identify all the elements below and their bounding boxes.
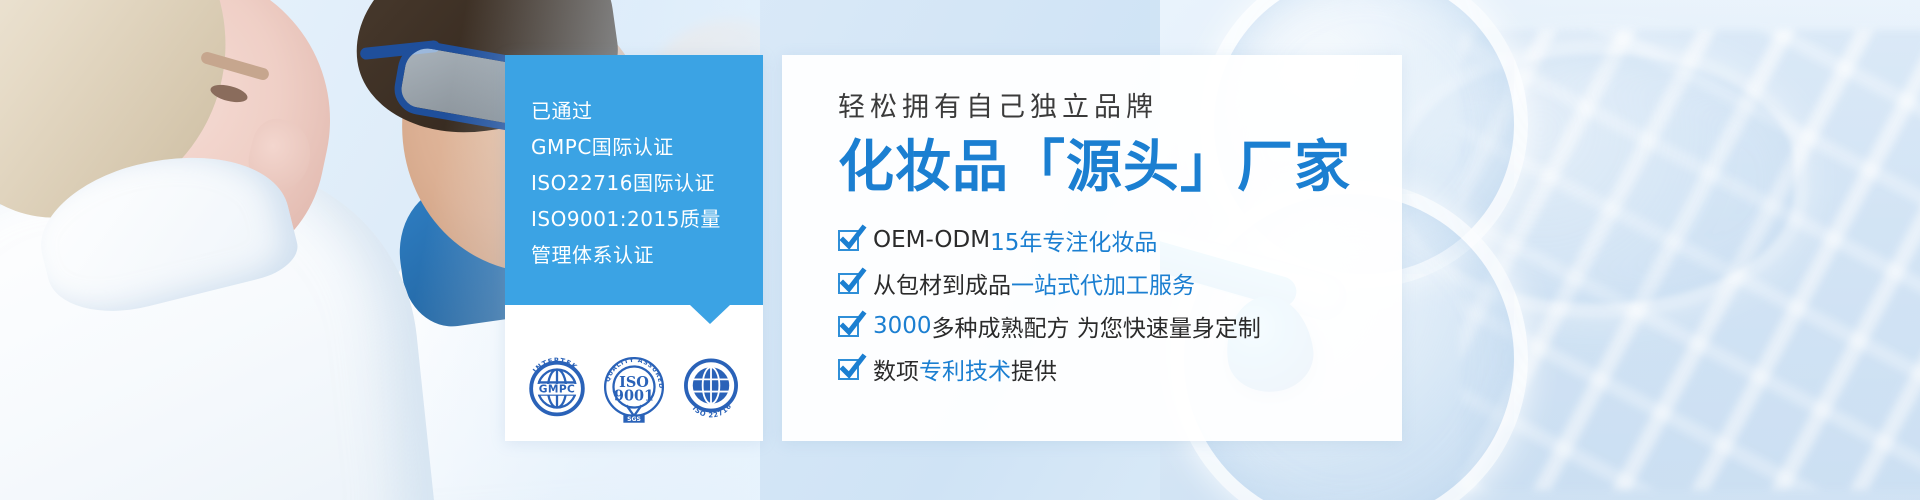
cert-line-1: 已通过 xyxy=(531,93,763,129)
kicker-text: 轻松拥有自己独立品牌 xyxy=(838,93,1402,123)
cert-line-5: 管理体系认证 xyxy=(531,237,763,273)
svg-text:SGS: SGS xyxy=(627,416,641,423)
bullet-highlight: 15年专注化妆品 xyxy=(990,223,1157,257)
list-item: 数项 专利技术 提供 xyxy=(838,348,1402,391)
bullet-plain-1: OEM-ODM xyxy=(873,227,990,253)
check-box-icon xyxy=(838,316,859,337)
bullet-plain-2: 提供 xyxy=(1011,352,1057,386)
check-box-icon xyxy=(838,359,859,380)
bullet-highlight: 一站式代加工服务 xyxy=(1011,266,1195,300)
female-scientist-hair xyxy=(0,0,262,242)
female-scientist-labcoat xyxy=(0,146,441,500)
certification-text-block: 已通过 GMPC国际认证 ISO22716国际认证 ISO9001:2015质量… xyxy=(505,55,763,305)
list-item: OEM-ODM 15年专注化妆品 xyxy=(838,219,1402,262)
safety-goggles-arm xyxy=(360,40,441,60)
promo-banner: 已通过 GMPC国际认证 ISO22716国际认证 ISO9001:2015质量… xyxy=(0,0,1920,500)
female-scientist-brow xyxy=(200,51,271,82)
main-content-panel: 轻松拥有自己独立品牌 化妆品「源头」厂家 OEM-ODM 15年专注化妆品 xyxy=(782,55,1402,441)
certification-logos: GMPC INTERTEK QUALITY ASSURED FIRM ISO 9… xyxy=(505,305,763,441)
cert-line-3: ISO22716国际认证 xyxy=(531,165,763,201)
iso-9001-sgs-logo: QUALITY ASSURED FIRM ISO 9001 SGS xyxy=(596,349,672,425)
headline-text: 化妆品「源头」厂家 xyxy=(838,135,1402,201)
cert-line-2: GMPC国际认证 xyxy=(531,129,763,165)
list-item: 3000 多种成熟配方 为您快速量身定制 xyxy=(838,305,1402,348)
female-scientist-nose xyxy=(242,114,317,196)
check-box-icon xyxy=(838,230,859,251)
panel-pointer-triangle xyxy=(690,305,730,324)
female-scientist-face xyxy=(2,0,358,298)
bullet-plain-1: 数项 xyxy=(873,352,919,386)
certification-panel: 已通过 GMPC国际认证 ISO22716国际认证 ISO9001:2015质量… xyxy=(505,55,763,441)
svg-text:INTERTEK: INTERTEK xyxy=(531,357,579,375)
svg-text:GMPC: GMPC xyxy=(539,382,575,395)
feature-list: OEM-ODM 15年专注化妆品 从包材到成品 一站式代加工服务 xyxy=(838,219,1402,391)
bullet-plain-2: 多种成熟配方 为您快速量身定制 xyxy=(932,309,1261,343)
bullet-highlight: 专利技术 xyxy=(919,352,1011,386)
list-item: 从包材到成品 一站式代加工服务 xyxy=(838,262,1402,305)
bullet-highlight: 3000 xyxy=(873,313,932,339)
cert-line-4: ISO9001:2015质量 xyxy=(531,201,763,237)
check-box-icon xyxy=(838,273,859,294)
female-scientist-collar xyxy=(27,132,303,328)
svg-text:9001: 9001 xyxy=(614,388,654,405)
bullet-plain-1: 从包材到成品 xyxy=(873,266,1011,300)
iso-22716-logo: ISO 22716 xyxy=(673,349,749,425)
intertek-gmpc-logo: GMPC INTERTEK xyxy=(519,349,595,425)
female-scientist-eye xyxy=(209,82,250,106)
female-scientist-lips xyxy=(227,188,285,221)
